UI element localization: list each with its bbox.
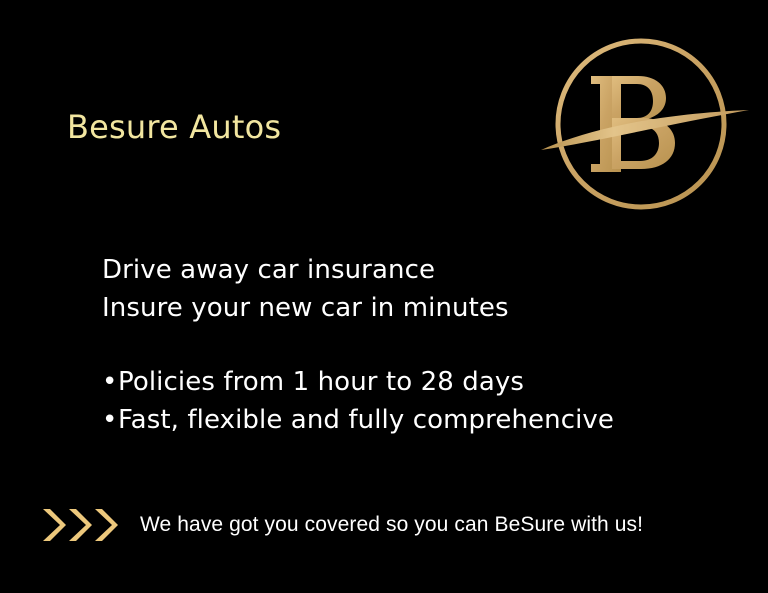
feature-bullet-list: • Policies from 1 hour to 28 days • Fast… (102, 363, 614, 439)
list-item: • Fast, flexible and fully comprehencive (102, 401, 614, 439)
brand-title: Besure Autos (67, 110, 281, 145)
chevron-group (40, 505, 118, 545)
list-item-label: Policies from 1 hour to 28 days (118, 363, 524, 401)
chevron-right-icon (92, 505, 118, 545)
promo-slide: Besure Autos (0, 0, 768, 593)
list-item-label: Fast, flexible and fully comprehencive (118, 401, 614, 439)
list-item: • Policies from 1 hour to 28 days (102, 363, 614, 401)
chevron-right-icon (66, 505, 92, 545)
headline-line-1: Drive away car insurance (102, 251, 509, 289)
footer-tagline-row: We have got you covered so you can BeSur… (40, 505, 643, 545)
headline-block: Drive away car insurance Insure your new… (102, 251, 509, 327)
bullet-marker-icon: • (102, 363, 118, 401)
footer-tagline: We have got you covered so you can BeSur… (140, 513, 643, 537)
chevron-right-icon (40, 505, 66, 545)
besure-b-monogram-logo (538, 22, 752, 212)
bullet-marker-icon: • (102, 401, 118, 439)
headline-line-2: Insure your new car in minutes (102, 289, 509, 327)
